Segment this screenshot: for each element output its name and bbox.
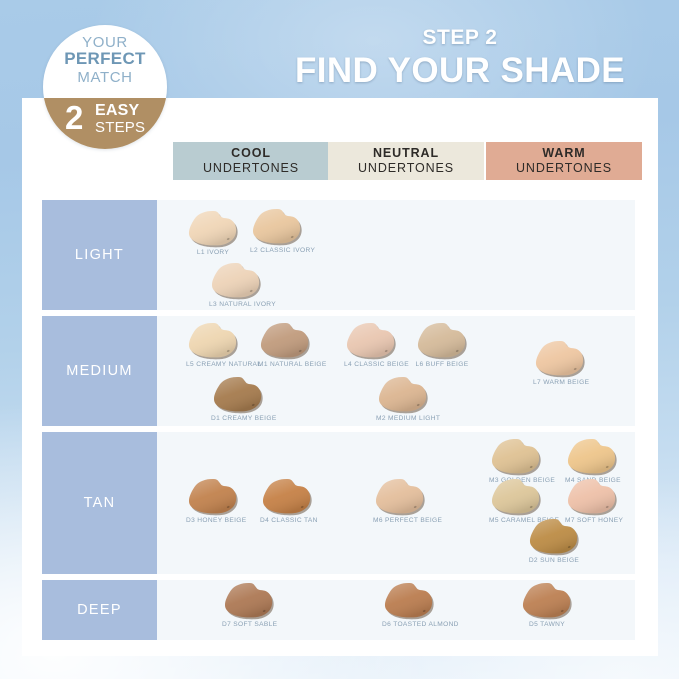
shade-swatch[interactable]: L7 WARM BEIGE	[533, 340, 587, 386]
shade-swatch[interactable]: D6 TOASTED ALMOND	[382, 582, 436, 628]
shade-swatch[interactable]: L4 CLASSIC BEIGE	[344, 322, 398, 368]
page-header: STEP 2 FIND YOUR SHADE	[250, 26, 670, 91]
foundation-blob-icon	[260, 478, 314, 516]
row-label-tan[interactable]: TAN	[42, 432, 157, 574]
swatch-label: L2 CLASSIC IVORY	[250, 247, 304, 254]
foundation-blob-icon	[527, 518, 581, 556]
swatch-label: L1 IVORY	[186, 249, 240, 256]
swatch-label: D4 CLASSIC TAN	[260, 517, 314, 524]
swatch-label: M6 PERFECT BEIGE	[373, 517, 427, 524]
foundation-blob-icon	[344, 322, 398, 360]
shade-swatch[interactable]: D5 TAWNY	[520, 582, 574, 628]
foundation-blob-icon	[489, 478, 543, 516]
foundation-blob-icon	[382, 582, 436, 620]
shade-swatch[interactable]: D4 CLASSIC TAN	[260, 478, 314, 524]
row-label-text: MEDIUM	[66, 363, 133, 379]
shade-swatch[interactable]: D2 SUN BEIGE	[527, 518, 581, 564]
shade-swatch[interactable]: D1 CREAMY BEIGE	[211, 376, 265, 422]
shade-swatch[interactable]: L3 NATURAL IVORY	[209, 262, 263, 308]
row-label-light[interactable]: LIGHT	[42, 200, 157, 310]
swatch-label: L5 CREAMY NATURAL	[186, 361, 240, 368]
shade-swatch[interactable]: L5 CREAMY NATURAL	[186, 322, 240, 368]
row-label-text: DEEP	[77, 602, 122, 618]
foundation-blob-icon	[222, 582, 276, 620]
shade-swatch[interactable]: D3 HONEY BEIGE	[186, 478, 240, 524]
shade-swatch[interactable]: L2 CLASSIC IVORY	[250, 208, 304, 254]
foundation-blob-icon	[186, 210, 240, 248]
swatch-label: L3 NATURAL IVORY	[209, 301, 263, 308]
shade-swatch[interactable]: D7 SOFT SABLE	[222, 582, 276, 628]
badge-step-number: 2	[65, 101, 83, 134]
foundation-blob-icon	[520, 582, 574, 620]
foundation-blob-icon	[250, 208, 304, 246]
column-name: NEUTRAL	[373, 146, 439, 160]
column-subtitle: UNDERTONES	[516, 161, 612, 176]
column-subtitle: UNDERTONES	[203, 161, 299, 176]
column-name: WARM	[542, 146, 585, 160]
swatch-label: D7 SOFT SABLE	[222, 621, 276, 628]
foundation-blob-icon	[565, 438, 619, 476]
shade-swatch[interactable]: L6 BUFF BEIGE	[415, 322, 469, 368]
swatch-label: D6 TOASTED ALMOND	[382, 621, 436, 628]
foundation-blob-icon	[209, 262, 263, 300]
badge-line-match: MATCH	[43, 69, 167, 86]
swatch-label: D1 CREAMY BEIGE	[211, 415, 265, 422]
badge-line-perfect: PERFECT	[43, 49, 167, 69]
row-label-text: LIGHT	[75, 247, 124, 263]
column-header-neutral: NEUTRAL UNDERTONES	[328, 142, 484, 180]
badge-steps-label: STEPS	[95, 120, 145, 135]
column-name: COOL	[231, 146, 271, 160]
foundation-blob-icon	[186, 322, 240, 360]
foundation-blob-icon	[565, 478, 619, 516]
foundation-blob-icon	[373, 478, 427, 516]
swatch-label: L7 WARM BEIGE	[533, 379, 587, 386]
swatch-label: D2 SUN BEIGE	[527, 557, 581, 564]
foundation-blob-icon	[533, 340, 587, 378]
foundation-blob-icon	[489, 438, 543, 476]
row-label-text: TAN	[84, 495, 116, 511]
shade-swatch[interactable]: L1 IVORY	[186, 210, 240, 256]
swatch-label: M2 MEDIUM LIGHT	[376, 415, 430, 422]
perfect-match-badge: YOUR PERFECT MATCH 2 EASY STEPS	[43, 25, 167, 149]
foundation-blob-icon	[186, 478, 240, 516]
foundation-blob-icon	[415, 322, 469, 360]
row-label-deep[interactable]: DEEP	[42, 580, 157, 640]
swatch-label: M1 NATURAL BEIGE	[258, 361, 312, 368]
column-header-warm: WARM UNDERTONES	[486, 142, 642, 180]
swatch-label: L6 BUFF BEIGE	[415, 361, 469, 368]
shade-swatch[interactable]: M6 PERFECT BEIGE	[373, 478, 427, 524]
column-header-cool: COOL UNDERTONES	[173, 142, 329, 180]
swatch-label: L4 CLASSIC BEIGE	[344, 361, 398, 368]
shade-swatch[interactable]: M2 MEDIUM LIGHT	[376, 376, 430, 422]
foundation-blob-icon	[258, 322, 312, 360]
row-label-medium[interactable]: MEDIUM	[42, 316, 157, 426]
shade-swatch[interactable]: M1 NATURAL BEIGE	[258, 322, 312, 368]
step-label: STEP 2	[250, 26, 670, 49]
foundation-blob-icon	[376, 376, 430, 414]
foundation-blob-icon	[211, 376, 265, 414]
column-subtitle: UNDERTONES	[358, 161, 454, 176]
swatch-label: D5 TAWNY	[520, 621, 574, 628]
badge-easy-label: EASY	[95, 103, 139, 119]
swatch-label: D3 HONEY BEIGE	[186, 517, 240, 524]
page-title: FIND YOUR SHADE	[250, 51, 670, 91]
